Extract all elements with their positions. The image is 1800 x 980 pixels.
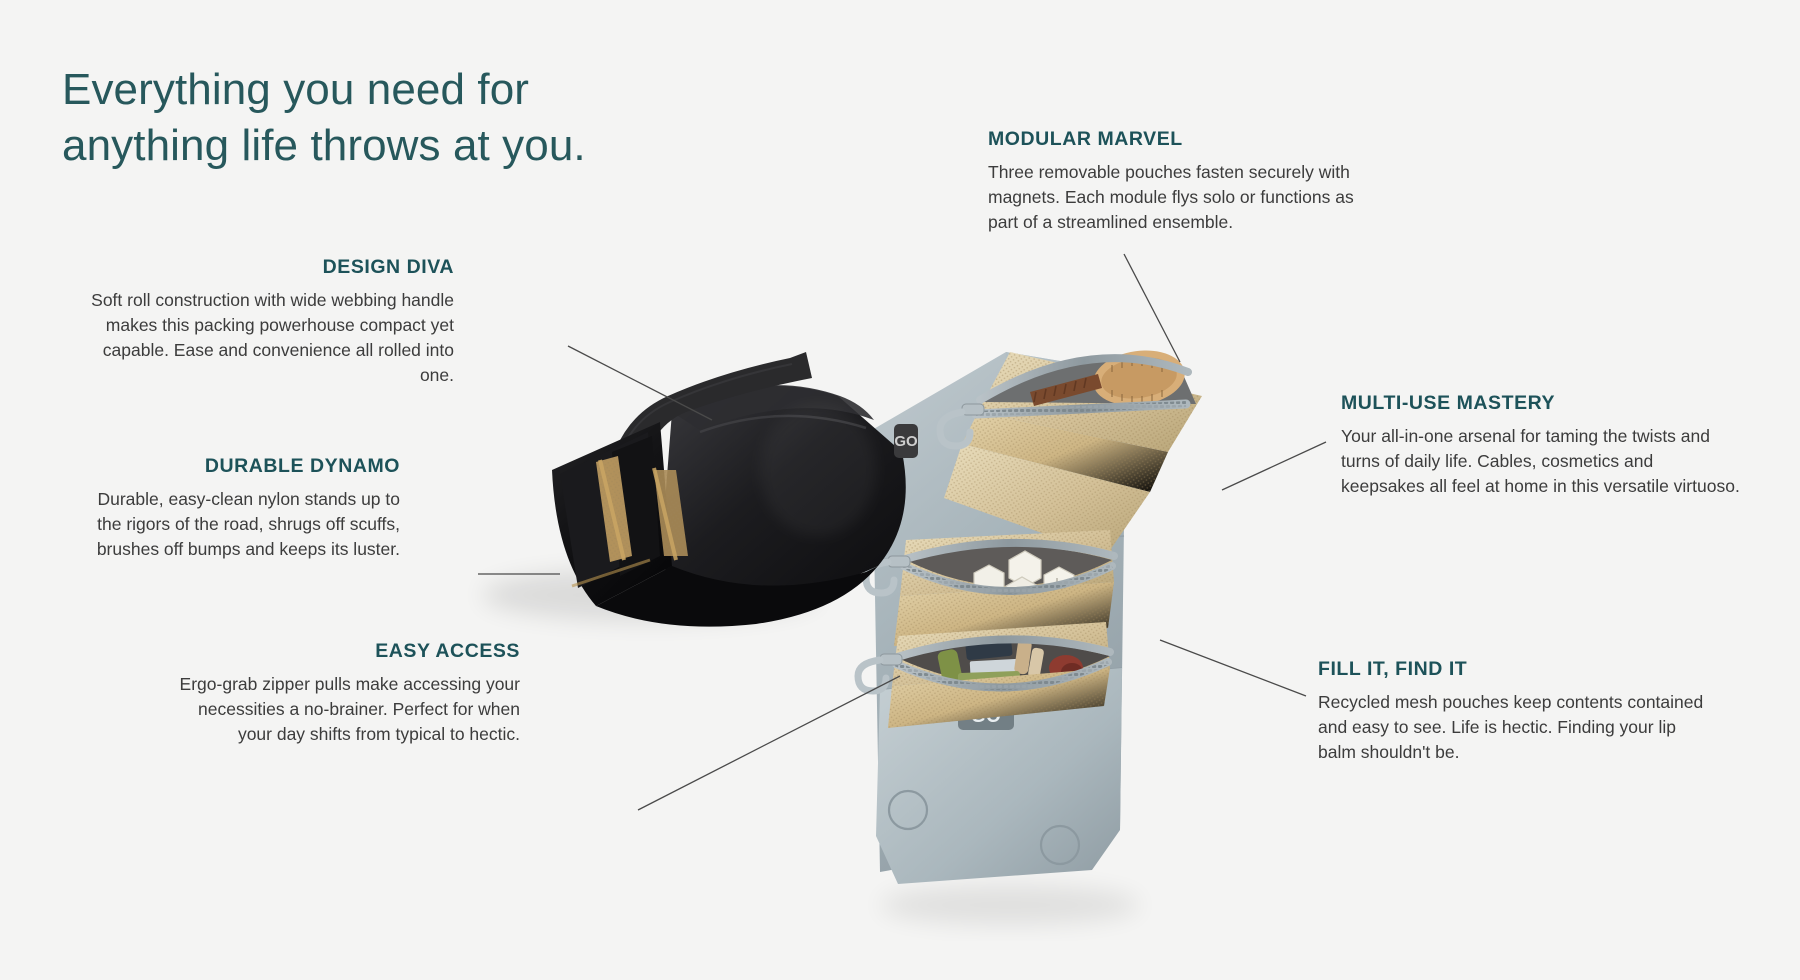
callout-body-easy-access: Ergo-grab zipper pulls make accessing yo…	[168, 672, 520, 747]
callout-durable-dynamo: DURABLE DYNAMO Durable, easy-clean nylon…	[88, 455, 400, 562]
brand-patch-bag: GO	[894, 424, 918, 458]
svg-text:GO: GO	[894, 433, 918, 450]
callout-multi-use-mastery: MULTI-USE MASTERY Your all-in-one arsena…	[1341, 392, 1741, 499]
page-headline: Everything you need for anything life th…	[62, 62, 742, 175]
infographic-canvas: GO HOBO	[0, 0, 1800, 980]
callout-title-fill-it-find-it: FILL IT, FIND IT	[1318, 658, 1708, 681]
callout-title-easy-access: EASY ACCESS	[168, 640, 520, 663]
callout-body-multi-use-mastery: Your all-in-one arsenal for taming the t…	[1341, 424, 1741, 499]
callout-body-design-diva: Soft roll construction with wide webbing…	[88, 288, 454, 387]
headline-line-2: anything life throws at you.	[62, 118, 742, 174]
callout-title-multi-use-mastery: MULTI-USE MASTERY	[1341, 392, 1741, 415]
callout-modular-marvel: MODULAR MARVEL Three removable pouches f…	[988, 128, 1378, 235]
rolled-black-bag: GO	[552, 352, 918, 627]
callout-body-fill-it-find-it: Recycled mesh pouches keep contents cont…	[1318, 690, 1708, 765]
callout-body-modular-marvel: Three removable pouches fasten securely …	[988, 160, 1378, 235]
callout-easy-access: EASY ACCESS Ergo-grab zipper pulls make …	[168, 640, 520, 747]
headline-line-1: Everything you need for	[62, 62, 742, 118]
callout-title-durable-dynamo: DURABLE DYNAMO	[88, 455, 400, 478]
callout-title-design-diva: DESIGN DIVA	[88, 256, 454, 279]
callout-title-modular-marvel: MODULAR MARVEL	[988, 128, 1378, 151]
callout-design-diva: DESIGN DIVA Soft roll construction with …	[88, 256, 454, 387]
callout-fill-it-find-it: FILL IT, FIND IT Recycled mesh pouches k…	[1318, 658, 1708, 765]
callout-body-durable-dynamo: Durable, easy-clean nylon stands up to t…	[88, 487, 400, 562]
